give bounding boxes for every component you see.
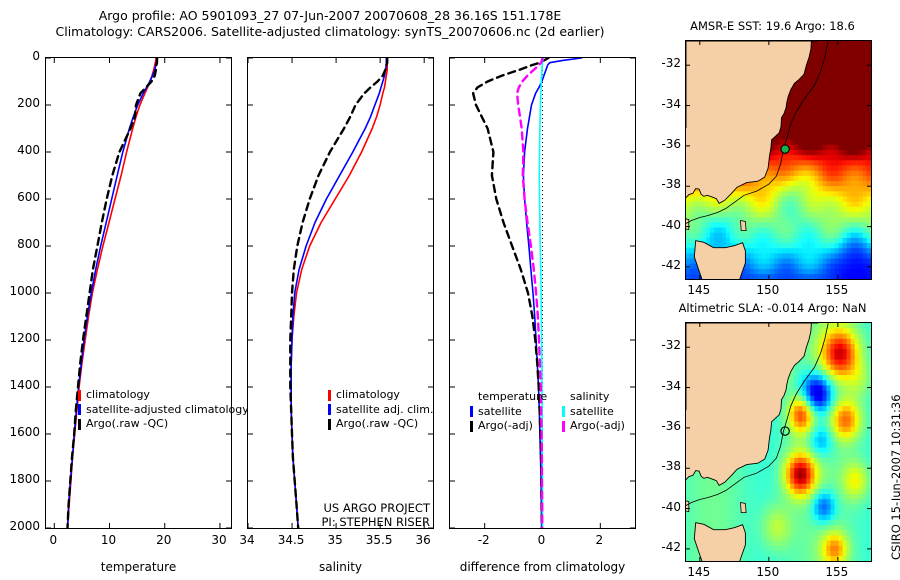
legend-entry: Argo(.raw -QC) <box>328 417 433 432</box>
title-line-1: Argo profile: AO 5901093_27 07-Jun-2007 … <box>0 8 660 24</box>
legend-color-swatch <box>470 406 473 417</box>
legend-color-swatch <box>78 404 81 415</box>
difference-legend-salinity: salinitysatelliteArgo(-adj) <box>562 390 625 434</box>
legend-entry: Argo(-adj) <box>562 419 625 434</box>
salinity-legend: climatologysatellite adj. clim.Argo(.raw… <box>328 388 433 432</box>
legend-color-swatch <box>78 419 81 430</box>
sst-lat-tick--38: -38 <box>647 177 681 191</box>
sst-map-title: AMSR-E SST: 19.6 Argo: 18.6 <box>660 19 885 33</box>
legend-heading-temperature: temperature <box>470 390 547 405</box>
sla-map-axes <box>685 322 872 562</box>
legend-label: climatology <box>86 388 150 403</box>
salinity-xtick-4: 36 <box>401 533 445 547</box>
sst-lon-tick-145: 145 <box>679 283 719 297</box>
sst-lat-tick--32: -32 <box>647 56 681 70</box>
temperature-xtick-0: 0 <box>31 533 75 547</box>
sst-lat-tick--34: -34 <box>647 97 681 111</box>
depth-tick-1600: 1600 <box>0 425 40 439</box>
depth-tick-1000: 1000 <box>0 284 40 298</box>
legend-color-swatch <box>562 406 565 417</box>
legend-color-swatch <box>328 419 331 430</box>
temperature-legend: climatologysatellite-adjusted climatolog… <box>78 388 249 432</box>
legend-label: satellite-adjusted climatology <box>86 403 249 418</box>
legend-label: Argo(.raw -QC) <box>336 417 418 432</box>
depth-tick-1800: 1800 <box>0 472 40 486</box>
salinity-xtick-2: 35 <box>313 533 357 547</box>
sst-lat-tick--36: -36 <box>647 137 681 151</box>
difference-xaxis-label: difference from climatology <box>449 560 636 574</box>
difference-legend-temperature: temperaturesatelliteArgo(-adj) <box>470 390 547 434</box>
sla-map-canvas <box>686 323 871 561</box>
legend-entry: Argo(-adj) <box>470 419 547 434</box>
temperature-xtick-2: 20 <box>142 533 186 547</box>
legend-entry: climatology <box>328 388 433 403</box>
salinity-xtick-3: 35.5 <box>357 533 401 547</box>
depth-tick-600: 600 <box>0 190 40 204</box>
legend-label: satellite <box>570 405 614 420</box>
temperature-xaxis-label: temperature <box>45 560 232 574</box>
legend-label: satellite adj. clim. <box>336 403 433 418</box>
title-line-2: Climatology: CARS2006. Satellite-adjuste… <box>0 24 660 40</box>
legend-entry: satellite adj. clim. <box>328 403 433 418</box>
sla-lat-tick--34: -34 <box>647 379 681 393</box>
credit-line-1: US ARGO PROJECT <box>234 501 430 515</box>
legend-entry: Argo(.raw -QC) <box>78 417 249 432</box>
legend-label: Argo(-adj) <box>570 419 625 434</box>
sla-lon-tick-150: 150 <box>748 565 788 579</box>
legend-color-swatch <box>328 404 331 415</box>
legend-color-swatch <box>470 421 473 432</box>
depth-tick-0: 0 <box>0 49 40 63</box>
legend-label: Argo(.raw -QC) <box>86 417 168 432</box>
legend-color-swatch <box>78 390 81 401</box>
sst-lat-tick--40: -40 <box>647 218 681 232</box>
legend-entry: satellite <box>562 405 625 420</box>
sst-map-axes <box>685 40 872 280</box>
temperature-xtick-1: 10 <box>87 533 131 547</box>
legend-color-swatch <box>562 421 565 432</box>
legend-entry: climatology <box>78 388 249 403</box>
difference-xtick-0: -2 <box>462 533 506 547</box>
sst-lon-tick-155: 155 <box>817 283 857 297</box>
depth-tick-1200: 1200 <box>0 331 40 345</box>
salinity-xtick-1: 34.5 <box>269 533 313 547</box>
salinity-xtick-0: 34 <box>225 533 269 547</box>
legend-heading-salinity: salinity <box>562 390 625 405</box>
depth-tick-800: 800 <box>0 237 40 251</box>
difference-plot-canvas <box>450 58 635 528</box>
sla-lat-tick--38: -38 <box>647 459 681 473</box>
legend-entry: satellite <box>470 405 547 420</box>
sla-lat-tick--42: -42 <box>647 540 681 554</box>
difference-xtick-2: 2 <box>577 533 621 547</box>
sla-lon-tick-145: 145 <box>679 565 719 579</box>
depth-tick-2000: 2000 <box>0 519 40 533</box>
depth-tick-400: 400 <box>0 143 40 157</box>
sla-lat-tick--32: -32 <box>647 338 681 352</box>
difference-plot-axes <box>449 57 636 529</box>
legend-label: climatology <box>336 388 400 403</box>
legend-color-swatch <box>328 390 331 401</box>
depth-tick-1400: 1400 <box>0 378 40 392</box>
credit-line-2: PI: STEPHEN RISER <box>234 515 430 529</box>
salinity-xaxis-label: salinity <box>247 560 434 574</box>
sst-lat-tick--42: -42 <box>647 258 681 272</box>
salinity-plot-axes <box>247 57 434 529</box>
legend-label: satellite <box>478 405 522 420</box>
sst-map-canvas <box>686 41 871 279</box>
temperature-plot-axes <box>45 57 232 529</box>
depth-tick-200: 200 <box>0 96 40 110</box>
project-credit: US ARGO PROJECT PI: STEPHEN RISER <box>234 501 430 529</box>
sla-map-title: Altimetric SLA: -0.014 Argo: NaN <box>660 301 885 315</box>
difference-xtick-1: 0 <box>520 533 564 547</box>
legend-label: Argo(-adj) <box>478 419 533 434</box>
figure-title: Argo profile: AO 5901093_27 07-Jun-2007 … <box>0 8 660 40</box>
csiro-timestamp: CSIRO 15-Jun-2007 10:31:36 <box>889 394 900 560</box>
salinity-plot-canvas <box>248 58 433 528</box>
sst-lon-tick-150: 150 <box>748 283 788 297</box>
argo-float-marker <box>781 145 789 153</box>
temperature-plot-canvas <box>46 58 231 528</box>
sla-lon-tick-155: 155 <box>817 565 857 579</box>
sla-lat-tick--40: -40 <box>647 500 681 514</box>
sla-lat-tick--36: -36 <box>647 419 681 433</box>
legend-entry: satellite-adjusted climatology <box>78 403 249 418</box>
